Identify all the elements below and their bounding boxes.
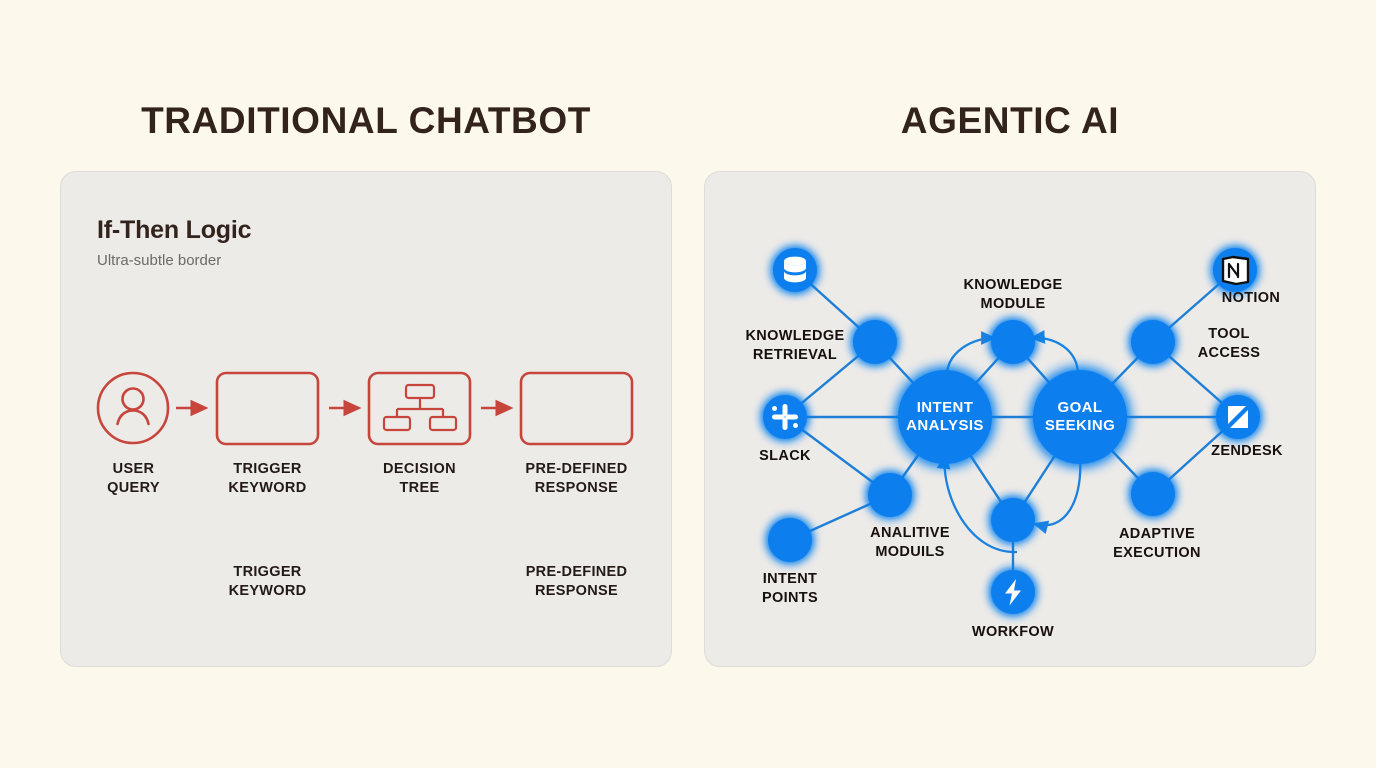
- label-intent-points: INTENT POINTS: [728, 570, 852, 608]
- label-zendesk: ZENDESK: [1191, 442, 1303, 461]
- right-column-title: AGENTIC AI: [704, 100, 1316, 142]
- agentic-network: INTENT ANALYSIS GOAL SEEKING: [705, 172, 1317, 668]
- chatbot-flow: TRIGGER KEYWORD PRE-DEFINED RESPONSE USE…: [61, 357, 673, 507]
- node-slack[interactable]: [763, 395, 807, 439]
- node-notion[interactable]: [1213, 248, 1257, 292]
- step-predefined-response: [521, 373, 632, 444]
- node-knowledge-module[interactable]: [991, 320, 1035, 364]
- user-icon: [118, 389, 149, 425]
- node-tool-access[interactable]: [1131, 320, 1175, 364]
- traditional-chatbot-panel: If-Then Logic Ultra-subtle border: [60, 171, 672, 667]
- agentic-ai-panel: INTENT ANALYSIS GOAL SEEKING: [704, 171, 1316, 667]
- hub-intent-label-2: ANALYSIS: [906, 417, 984, 434]
- label-slack: SLACK: [729, 447, 841, 466]
- label-notion: NOTION: [1199, 289, 1303, 308]
- node-intent-points[interactable]: [768, 518, 812, 562]
- caption-user-query: USER QUERY: [83, 460, 184, 498]
- label-workfow: WORKFOW: [948, 623, 1078, 642]
- node-analitive-moduils[interactable]: [868, 473, 912, 517]
- caption-trigger-keyword: TRIGGER KEYWORD: [217, 460, 318, 498]
- node-workfow[interactable]: [991, 570, 1035, 614]
- notion-icon: [1223, 257, 1248, 284]
- label-knowledge-module: KNOWLEDGE MODULE: [937, 276, 1089, 314]
- diagram-canvas: TRADITIONAL CHATBOT AGENTIC AI If-Then L…: [0, 0, 1376, 768]
- database-icon: [784, 257, 806, 283]
- predefined-response-box-label: PRE-DEFINED RESPONSE: [521, 563, 632, 601]
- node-adaptive-execution[interactable]: [1131, 472, 1175, 516]
- panel-subtext: Ultra-subtle border: [97, 252, 221, 269]
- node-workflow-relay[interactable]: [991, 498, 1035, 542]
- node-zendesk[interactable]: [1216, 395, 1260, 439]
- trigger-keyword-box-label: TRIGGER KEYWORD: [217, 563, 318, 601]
- arrow-goal-to-workflow: [1035, 454, 1080, 525]
- hub-goal-label-2: SEEKING: [1045, 417, 1115, 434]
- caption-predefined-response: PRE-DEFINED RESPONSE: [521, 460, 632, 498]
- caption-decision-tree: DECISION TREE: [369, 460, 470, 498]
- decision-tree-icon: [384, 385, 456, 430]
- label-adaptive-execution: ADAPTIVE EXECUTION: [1087, 525, 1227, 563]
- hub-intent-label-1: INTENT: [917, 399, 974, 416]
- label-knowledge-retrieval: KNOWLEDGE RETRIEVAL: [721, 327, 869, 365]
- step-decision-tree: [369, 373, 470, 444]
- label-tool-access: TOOL ACCESS: [1173, 325, 1285, 363]
- step-trigger-keyword: [217, 373, 318, 444]
- node-knowledge-retrieval[interactable]: [773, 248, 817, 292]
- hub-goal-label-1: GOAL: [1058, 399, 1103, 416]
- panel-heading: If-Then Logic: [97, 216, 251, 245]
- label-analitive-moduils: ANALITIVE MODUILS: [835, 524, 985, 562]
- left-column-title: TRADITIONAL CHATBOT: [60, 100, 672, 142]
- step-user-query: [98, 373, 168, 443]
